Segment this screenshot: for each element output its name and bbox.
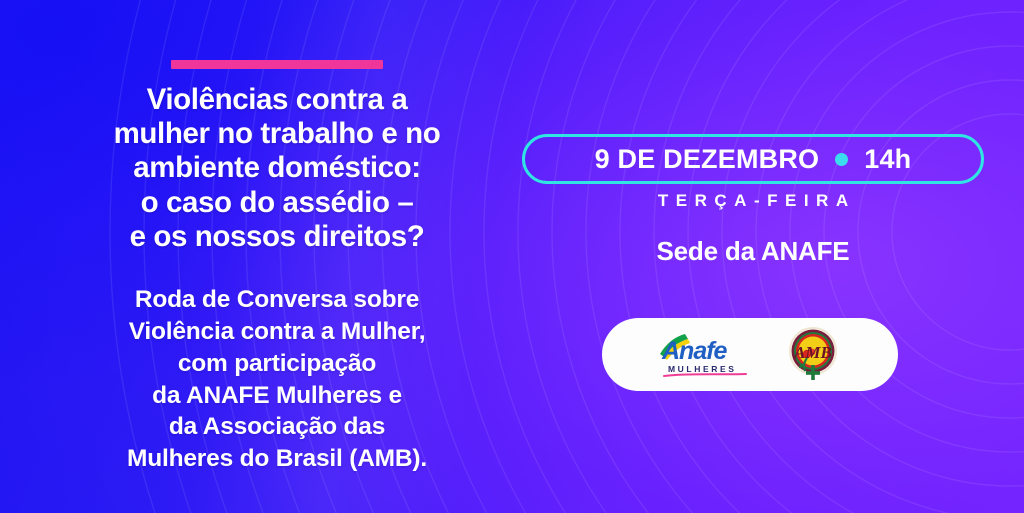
event-time: 14h <box>864 144 911 175</box>
amb-logo: AMB <box>784 326 842 384</box>
anafe-mulheres-logo: Anafe MULHERES <box>658 332 750 378</box>
event-poster: Violências contra a mulher no trabalho e… <box>0 0 1024 513</box>
left-content-column: Violências contra a mulher no trabalho e… <box>46 40 508 475</box>
separator-dot-icon <box>835 153 848 166</box>
sponsor-logo-card: Anafe MULHERES <box>602 318 898 391</box>
date-time-pill: 9 DE DEZEMBRO 14h <box>522 134 984 184</box>
accent-bar <box>171 60 383 69</box>
right-content-column: 9 DE DEZEMBRO 14h TERÇA-FEIRA Sede da AN… <box>512 0 1024 513</box>
event-weekday: TERÇA-FEIRA <box>512 191 994 211</box>
page-title: Violências contra a mulher no trabalho e… <box>46 83 508 254</box>
event-description: Roda de Conversa sobre Violência contra … <box>46 284 508 475</box>
svg-text:Anafe: Anafe <box>661 337 728 365</box>
event-venue: Sede da ANAFE <box>512 236 994 267</box>
svg-text:AMB: AMB <box>793 343 832 362</box>
event-date: 9 DE DEZEMBRO <box>595 144 820 175</box>
svg-text:MULHERES: MULHERES <box>668 364 737 374</box>
